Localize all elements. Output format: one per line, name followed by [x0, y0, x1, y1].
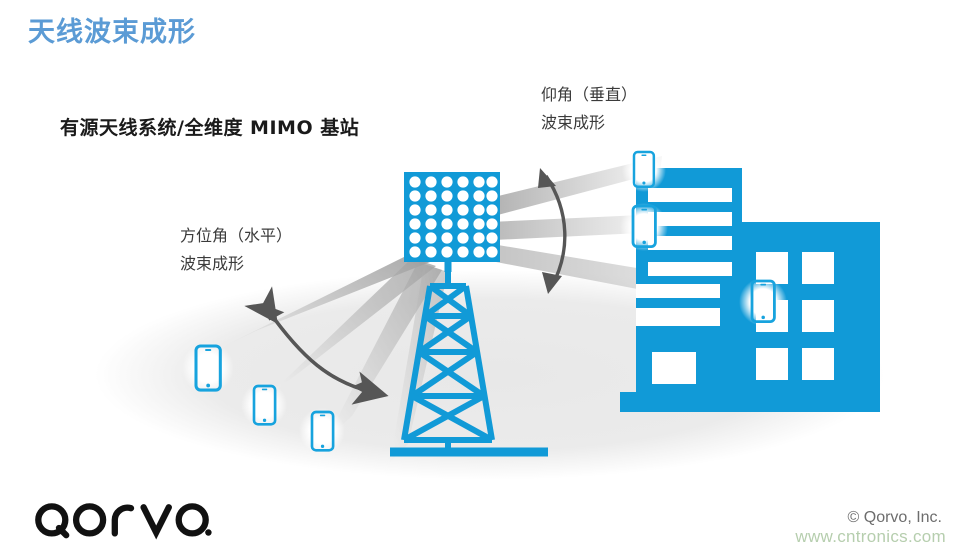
label-azimuth-line1: 方位角（水平）	[180, 222, 292, 250]
phone-building-2	[620, 203, 668, 251]
phone-ground-2	[241, 382, 287, 428]
phone-building-3	[739, 278, 787, 326]
label-azimuth-line2: 波束成形	[180, 250, 292, 278]
phone-building-1	[622, 148, 666, 192]
label-azimuth-beamforming: 方位角（水平） 波束成形	[180, 222, 292, 278]
beamforming-diagram	[0, 0, 960, 554]
phone-ground-1	[182, 342, 234, 394]
label-elevation-line2: 波束成形	[541, 109, 637, 137]
label-elevation-beamforming: 仰角（垂直） 波束成形	[541, 81, 637, 137]
phone-ground-3	[299, 408, 345, 454]
site-watermark: www.cntronics.com	[795, 527, 946, 547]
copyright-notice: © Qorvo, Inc.	[848, 509, 942, 527]
label-elevation-line1: 仰角（垂直）	[541, 81, 637, 109]
page-title: 天线波束成形	[28, 10, 196, 49]
diagram-subtitle: 有源天线系统/全维度 MIMO 基站	[60, 113, 359, 140]
antenna-array-panel	[404, 172, 500, 272]
slide-canvas: 天线波束成形 有源天线系统/全维度 MIMO 基站 仰角（垂直） 波束成形 方位…	[0, 0, 960, 554]
qorvo-logo	[32, 498, 212, 540]
